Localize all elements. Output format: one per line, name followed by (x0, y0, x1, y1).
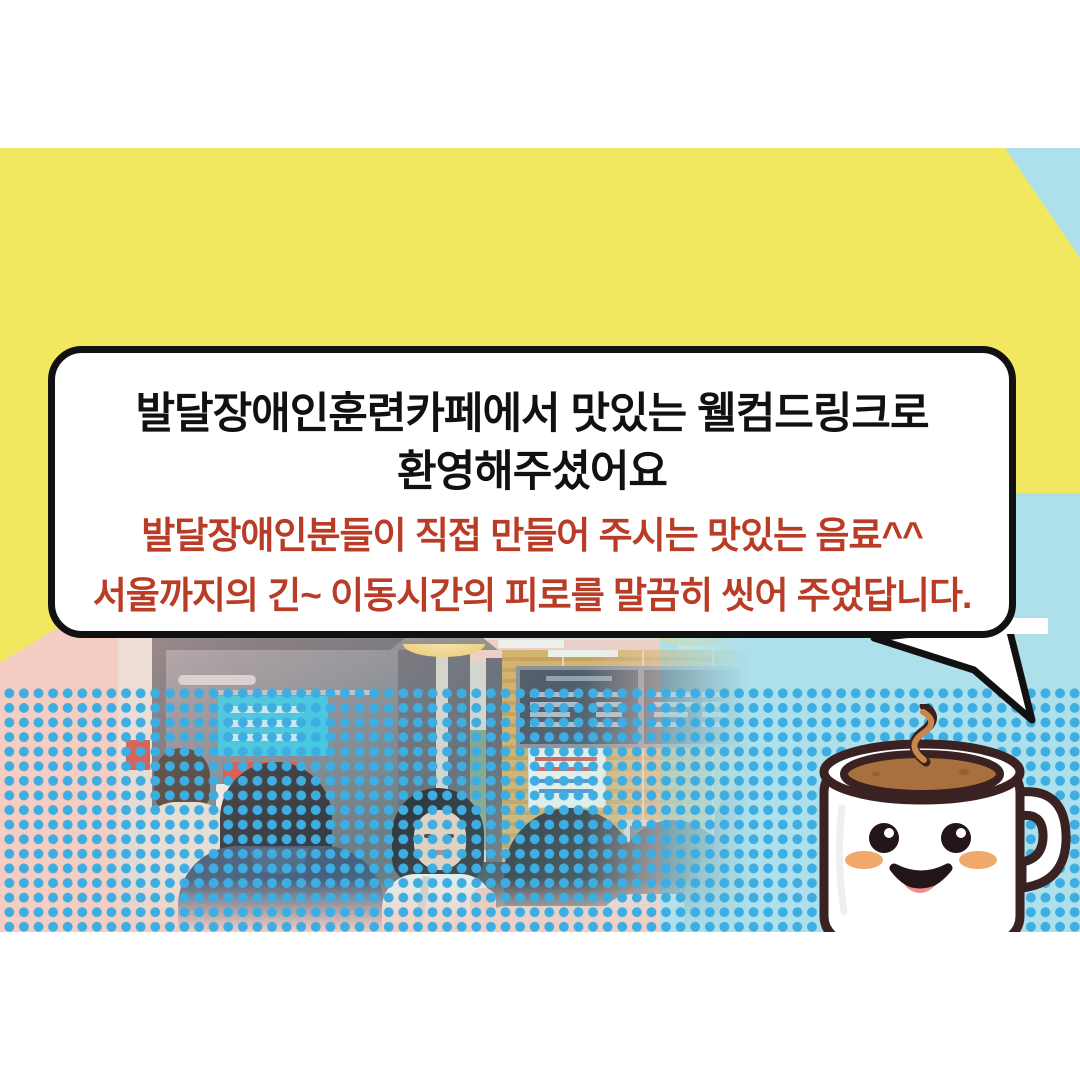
poster-card: ONLY ~16:30 (0, 0, 1080, 1080)
speech-bubble: 발달장애인훈련카페에서 맛있는 웰컴드링크로 환영해주셨어요 발달장애인분들이 … (48, 346, 1016, 638)
headline-line-2: 환영해주셨어요 (55, 437, 1009, 499)
subline-2: 서울까지의 긴~ 이동시간의 피로를 말끔히 씻어 주었답니다. (55, 565, 1009, 619)
content-band: ONLY ~16:30 (0, 148, 1080, 932)
subline-1: 발달장애인분들이 직접 만들어 주시는 맛있는 음료^^ (55, 505, 1009, 559)
coffee-mug-mascot-icon (806, 704, 1072, 932)
headline-line-1: 발달장애인훈련카페에서 맛있는 웰컴드링크로 (55, 379, 1009, 441)
